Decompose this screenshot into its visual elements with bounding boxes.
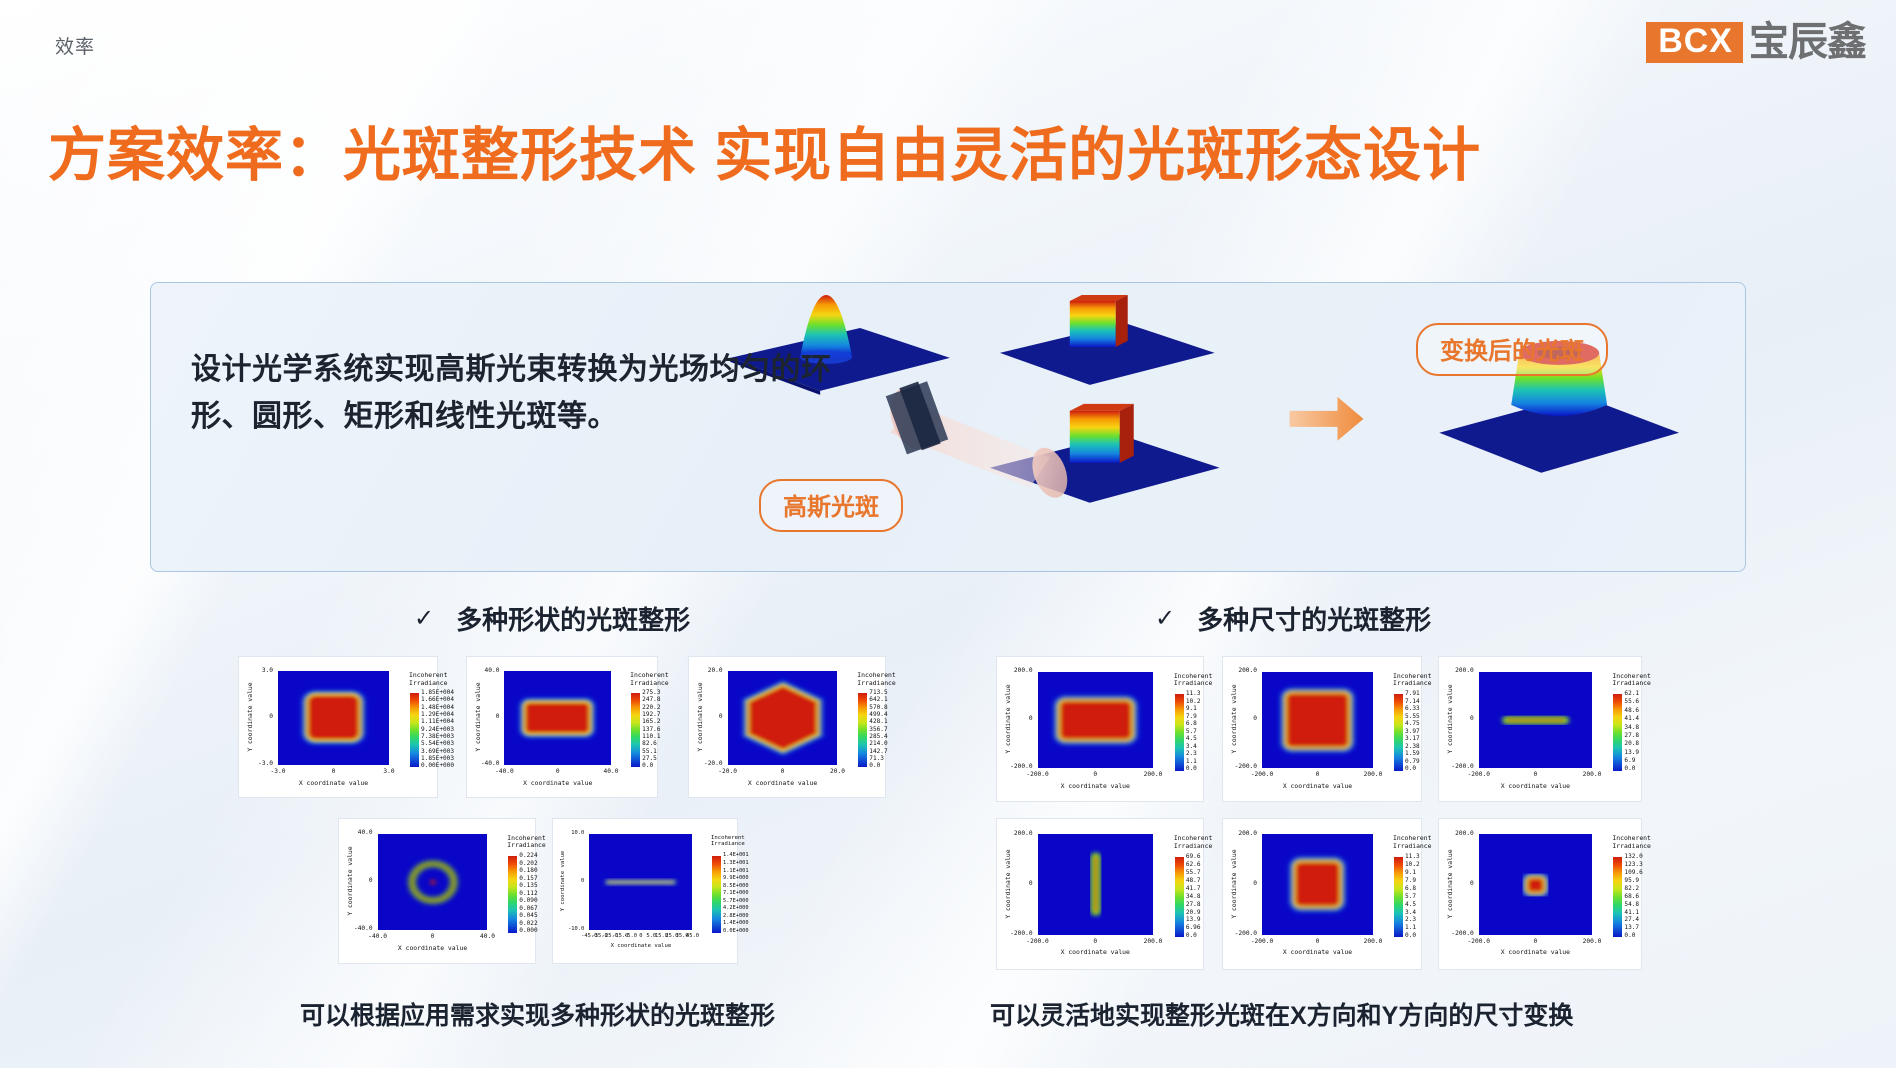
y-tick: 200.0 <box>1238 667 1257 674</box>
x-tick: -40.0 <box>495 768 514 775</box>
heatmap-field <box>589 834 692 930</box>
x-tick: -5.0 <box>624 933 637 939</box>
colorbar <box>858 693 867 768</box>
x-tick: 0 <box>781 768 785 775</box>
colorbar-labels: 11.310.29.17.96.85.74.53.42.31.10.0 <box>1405 854 1420 939</box>
x-tick: 200.0 <box>1583 938 1602 945</box>
x-tick: 0 <box>639 933 642 939</box>
colorbar-tick: 5.7 <box>1186 729 1201 735</box>
colorbar-tick: 0.0 <box>869 763 887 769</box>
colorbar-tick: 9.1 <box>1186 706 1201 712</box>
plot-size-line-v: IncoherentIrradiance 69.662.655.748.7 <box>996 818 1204 970</box>
colorbar <box>1394 694 1403 771</box>
plot-size-square-small: IncoherentIrradiance <box>1438 818 1642 970</box>
colorbar-tick: 7.38E+003 <box>421 734 454 740</box>
colorbar-tick: 3.17 <box>1405 736 1420 742</box>
colorbar-tick: 13.9 <box>1624 750 1639 756</box>
y-axis-label: Y coordinate value <box>1004 671 1012 767</box>
y-tick: 10.0 <box>571 830 584 836</box>
flattop-plot-3d-top <box>1000 295 1215 385</box>
colorbar-title: IncoherentIrradiance <box>1174 673 1212 688</box>
colorbar-tick: 41.4 <box>1624 716 1639 722</box>
colorbar-tick: 7.9 <box>1186 714 1201 720</box>
x-tick: 3.0 <box>383 768 394 775</box>
plot-shape-rectangle: IncoherentIrradiance <box>466 656 658 798</box>
colorbar-title: IncoherentIrradiance <box>1393 835 1431 850</box>
x-tick: -200.0 <box>1251 938 1273 945</box>
y-tick: 200.0 <box>1455 830 1474 837</box>
heatmap-pattern <box>1038 834 1153 934</box>
colorbar-tick: 34.8 <box>1624 725 1639 731</box>
label-transformed-spot: 变换后的光斑 <box>1416 323 1608 376</box>
colorbar-tick: 1.3E+001 <box>723 861 749 866</box>
colorbar-tick: 10.2 <box>1186 699 1201 705</box>
colorbar-tick: 4.5 <box>1405 902 1420 908</box>
x-axis-label: X coordinate value <box>1038 782 1153 790</box>
logo-mark-text: BCX <box>1646 22 1743 63</box>
colorbar <box>631 693 640 768</box>
colorbar-tick: 1.4E+001 <box>723 853 749 858</box>
colorbar-tick: 109.6 <box>1624 870 1642 876</box>
colorbar-title: IncoherentIrradiance <box>711 835 745 848</box>
x-tick: -200.0 <box>1251 771 1273 778</box>
colorbar-tick: 0.157 <box>519 876 537 882</box>
x-tick: -3.0 <box>271 768 286 775</box>
x-tick: 0 <box>1534 771 1538 778</box>
colorbar-tick: 4.5 <box>1186 736 1201 742</box>
colorbar-gradient <box>858 693 867 768</box>
colorbar-tick: 137.6 <box>642 727 660 733</box>
colorbar-labels: 132.0123.3109.695.982.268.654.841.127.41… <box>1624 854 1642 939</box>
x-tick: 45.0 <box>686 933 699 939</box>
colorbar-tick: 132.0 <box>1624 854 1642 860</box>
colorbar-tick: 20.9 <box>1186 910 1201 916</box>
colorbar-labels: 62.155.648.641.434.827.820.813.96.90.0 <box>1624 691 1639 773</box>
colorbar-tick: 1.4E+000 <box>723 921 749 926</box>
transform-arrow-icon <box>1290 397 1364 441</box>
colorbar <box>1175 694 1184 771</box>
x-axis-label: X coordinate value <box>589 943 692 949</box>
colorbar-tick: 1.1E+001 <box>723 869 749 874</box>
plot-shape-line: IncoherentIrradiance 1.4E+0 <box>552 818 738 964</box>
x-tick: -40.0 <box>368 933 387 940</box>
section-heading-sizes: ✓ 多种尺寸的光斑整形 <box>1155 600 1431 637</box>
colorbar-tick: 11.3 <box>1405 854 1420 860</box>
heatmap-field <box>378 834 488 930</box>
colorbar-tick: 7.91 <box>1405 691 1420 697</box>
page-title: 方案效率：光斑整形技术 实现自由灵活的光斑形态设计 <box>48 108 1481 192</box>
colorbar-tick: 27.5 <box>642 756 660 762</box>
colorbar-tick: 0.0E+000 <box>723 929 749 934</box>
colorbar-tick: 0.0 <box>1624 766 1639 772</box>
colorbar-tick: 1.59 <box>1405 751 1420 757</box>
caption-shapes: 可以根据应用需求实现多种形状的光斑整形 <box>300 996 775 1032</box>
colorbar-tick: 0.180 <box>519 868 537 874</box>
y-axis-label: Y coordinate value <box>1230 671 1238 767</box>
y-tick: -40.0 <box>481 760 500 767</box>
colorbar-tick: 7.9 <box>1405 878 1420 884</box>
slide-kicker: 效率 <box>55 32 95 59</box>
x-tick: 200.0 <box>1144 771 1163 778</box>
colorbar-tick: 13.7 <box>1624 925 1642 931</box>
heatmap-pattern <box>504 671 611 765</box>
colorbar-tick: 275.3 <box>642 690 660 696</box>
x-axis-label: X coordinate value <box>1262 782 1373 790</box>
colorbar-tick: 27.8 <box>1624 733 1639 739</box>
plot-size-rect-wide: IncoherentIrradiance <box>996 656 1204 802</box>
colorbar-tick: 123.3 <box>1624 862 1642 868</box>
heatmap-pattern <box>1262 834 1373 934</box>
colorbar-tick: 1.66E+004 <box>421 697 454 703</box>
y-tick: 0 <box>719 713 723 720</box>
x-tick: 0 <box>1316 771 1320 778</box>
colorbar-gradient <box>508 856 517 933</box>
x-tick: -200.0 <box>1468 938 1490 945</box>
y-tick: 40.0 <box>358 829 373 836</box>
x-axis-label: X coordinate value <box>1262 948 1373 956</box>
colorbar-tick: 27.4 <box>1624 917 1642 923</box>
x-tick: 0 <box>431 933 435 940</box>
heatmap-field <box>1262 672 1373 768</box>
colorbar <box>1175 857 1184 937</box>
colorbar-tick: 285.4 <box>869 734 887 740</box>
plot-shape-ring: IncoherentIrradiance <box>338 818 536 964</box>
x-tick: 0 <box>1316 938 1320 945</box>
section-heading-shapes: ✓ 多种形状的光斑整形 <box>414 600 690 637</box>
x-tick: 0 <box>1093 938 1097 945</box>
colorbar <box>1613 694 1622 771</box>
x-axis-label: X coordinate value <box>1038 948 1153 956</box>
caption-sizes: 可以灵活地实现整形光斑在X方向和Y方向的尺寸变换 <box>990 996 1573 1032</box>
colorbar-tick: 0.224 <box>519 853 537 859</box>
colorbar-labels: 11.310.29.17.96.85.74.53.42.31.10.0 <box>1186 691 1201 773</box>
colorbar-tick: 7.1E+000 <box>723 891 749 896</box>
x-tick: 200.0 <box>1364 938 1383 945</box>
y-tick: 0 <box>1029 715 1033 722</box>
heatmap-pattern <box>1038 672 1153 768</box>
plot-size-line-h: IncoherentIrradiance 62.155.648.641.4 <box>1438 656 1642 802</box>
check-icon: ✓ <box>1155 604 1175 633</box>
x-axis-label: X coordinate value <box>378 944 488 952</box>
colorbar-tick: 5.7E+000 <box>723 899 749 904</box>
colorbar-title: IncoherentIrradiance <box>1393 673 1431 688</box>
x-tick: -200.0 <box>1468 771 1490 778</box>
brand-logo: BCX 宝辰鑫 <box>1646 22 1866 63</box>
colorbar-tick: 82.2 <box>1624 886 1642 892</box>
colorbar-title: IncoherentIrradiance <box>409 672 447 687</box>
colorbar-tick: 0.090 <box>519 898 537 904</box>
y-axis-label: Y coordinate value <box>346 833 354 929</box>
colorbar-tick: 5.54E+003 <box>421 741 454 747</box>
colorbar-tick: 142.7 <box>869 749 887 755</box>
colorbar-gradient <box>410 693 419 768</box>
y-tick: -200.0 <box>1451 763 1473 770</box>
colorbar-tick: 3.69E+003 <box>421 749 454 755</box>
colorbar-tick: 0.00E+000 <box>421 763 454 769</box>
y-tick: 0 <box>1470 880 1474 887</box>
x-tick: 0 <box>556 768 560 775</box>
colorbar-tick: 95.9 <box>1624 878 1642 884</box>
colorbar-gradient <box>1394 857 1403 937</box>
heatmap-pattern <box>589 834 692 930</box>
colorbar-tick: 20.8 <box>1624 741 1639 747</box>
heatmap-field <box>1479 672 1592 768</box>
colorbar-tick: 27.8 <box>1186 902 1201 908</box>
colorbar-tick: 1.11E+004 <box>421 719 454 725</box>
section-heading-sizes-label: 多种尺寸的光斑整形 <box>1197 600 1431 637</box>
heatmap-field <box>504 671 611 765</box>
y-tick: 0 <box>581 878 584 884</box>
y-tick: -200.0 <box>1010 763 1032 770</box>
y-tick: 200.0 <box>1455 667 1474 674</box>
colorbar-tick: 68.6 <box>1624 894 1642 900</box>
colorbar <box>1394 857 1403 937</box>
colorbar-tick: 1.48E+004 <box>421 705 454 711</box>
colorbar-title: IncoherentIrradiance <box>1612 673 1650 688</box>
y-tick: 3.0 <box>262 667 273 674</box>
y-tick: 0 <box>1253 715 1257 722</box>
x-axis-label: X coordinate value <box>1479 948 1592 956</box>
x-tick: 40.0 <box>604 768 619 775</box>
optical-system <box>882 381 1073 502</box>
colorbar-tick: 8.5E+000 <box>723 884 749 889</box>
x-tick: 0 <box>1093 771 1097 778</box>
colorbar-tick: 1.85E+003 <box>421 756 454 762</box>
colorbar-tick: 570.8 <box>869 705 887 711</box>
colorbar-tick: 192.7 <box>642 712 660 718</box>
colorbar-gradient <box>1613 694 1622 771</box>
heatmap-field <box>1038 834 1153 934</box>
colorbar-tick: 356.7 <box>869 727 887 733</box>
y-axis-label: Y coordinate value <box>1446 834 1454 934</box>
heatmap-pattern <box>1479 834 1592 934</box>
colorbar-tick: 0.112 <box>519 891 537 897</box>
heatmap-pattern <box>1479 672 1592 768</box>
colorbar-tick: 0.0 <box>1624 933 1642 939</box>
colorbar-gradient <box>712 856 721 933</box>
colorbar-tick: 0.000 <box>519 928 537 934</box>
colorbar <box>712 856 721 933</box>
colorbar-gradient <box>631 693 640 768</box>
colorbar-tick: 110.1 <box>642 734 660 740</box>
colorbar-tick: 0.022 <box>519 921 537 927</box>
y-axis-label: Y coordinate value <box>696 671 704 765</box>
colorbar-tick: 0.0 <box>1186 766 1201 772</box>
y-axis-label: Y coordinate value <box>560 833 566 929</box>
colorbar-tick: 1.29E+004 <box>421 712 454 718</box>
heatmap-pattern <box>278 671 389 765</box>
colorbar-tick: 713.5 <box>869 690 887 696</box>
y-axis-label: Y coordinate value <box>1446 671 1454 767</box>
colorbar-gradient <box>1613 857 1622 937</box>
colorbar-tick: 0.0 <box>1405 766 1420 772</box>
y-tick: 0 <box>496 713 500 720</box>
colorbar-tick: 4.2E+000 <box>723 906 749 911</box>
colorbar-tick: 82.6 <box>642 741 660 747</box>
plot-shape-square: IncoherentIrradiance <box>238 656 438 798</box>
heatmap-field <box>1479 834 1592 934</box>
colorbar-tick: 48.7 <box>1186 878 1201 884</box>
colorbar-tick: 0.0 <box>1405 933 1420 939</box>
y-tick: 0 <box>1470 715 1474 722</box>
y-tick: 200.0 <box>1014 830 1033 837</box>
colorbar-tick: 55.6 <box>1624 699 1639 705</box>
y-tick: 0 <box>1253 880 1257 887</box>
colorbar-tick: 6.9 <box>1624 758 1639 764</box>
colorbar-tick: 1.85E+004 <box>421 690 454 696</box>
heatmap-pattern <box>728 671 838 765</box>
y-tick: -200.0 <box>1451 930 1473 937</box>
colorbar-tick: 9.1 <box>1405 870 1420 876</box>
label-gaussian-spot: 高斯光斑 <box>759 479 903 532</box>
colorbar-title: IncoherentIrradiance <box>1612 835 1650 850</box>
colorbar-tick: 41.1 <box>1624 910 1642 916</box>
colorbar-tick: 247.8 <box>642 697 660 703</box>
colorbar-tick: 2.8E+000 <box>723 914 749 919</box>
colorbar-tick: 1.1 <box>1186 759 1201 765</box>
colorbar-tick: 0.135 <box>519 883 537 889</box>
colorbar-tick: 62.6 <box>1186 862 1201 868</box>
colorbar-title: IncoherentIrradiance <box>507 835 545 850</box>
x-axis-label: X coordinate value <box>504 779 611 787</box>
x-tick: -200.0 <box>1026 771 1048 778</box>
colorbar-tick: 13.9 <box>1186 917 1201 923</box>
x-axis-label: X coordinate value <box>728 779 838 787</box>
plot-size-square-big: IncoherentIrradiance <box>1222 656 1422 802</box>
colorbar-labels: 0.2240.2020.1800.1570.1350.1120.0900.067… <box>519 853 537 935</box>
hero-description: 设计光学系统实现高斯光束转换为光场均匀的环形、圆形、矩形和线性光斑等。 <box>191 347 841 440</box>
colorbar <box>1613 857 1622 937</box>
colorbar-labels: 1.85E+0041.66E+0041.48E+0041.29E+0041.11… <box>421 690 454 770</box>
y-tick: 200.0 <box>1014 667 1033 674</box>
colorbar-tick: 214.0 <box>869 741 887 747</box>
colorbar-tick: 6.8 <box>1405 886 1420 892</box>
colorbar-labels: 1.4E+0011.3E+0011.1E+0019.9E+0008.5E+000… <box>723 853 749 934</box>
colorbar-tick: 54.8 <box>1624 902 1642 908</box>
y-tick: 20.0 <box>708 667 723 674</box>
x-tick: 200.0 <box>1583 771 1602 778</box>
colorbar-labels: 7.917.146.335.554.753.973.172.381.590.79… <box>1405 691 1420 773</box>
y-axis-label: Y coordinate value <box>246 671 254 765</box>
y-tick: -200.0 <box>1010 930 1032 937</box>
colorbar-tick: 165.2 <box>642 719 660 725</box>
colorbar-tick: 34.8 <box>1186 894 1201 900</box>
colorbar <box>508 856 517 933</box>
colorbar-tick: 642.1 <box>869 697 887 703</box>
y-tick: 0 <box>369 877 373 884</box>
y-axis-label: Y coordinate value <box>1004 834 1012 934</box>
colorbar-labels: 275.3247.8220.2192.7165.2137.6110.182.65… <box>642 690 660 770</box>
x-axis-label: X coordinate value <box>278 779 389 787</box>
colorbar <box>410 693 419 768</box>
colorbar-tick: 0.045 <box>519 913 537 919</box>
colorbar-tick: 69.6 <box>1186 854 1201 860</box>
heatmap-field <box>1262 834 1373 934</box>
colorbar-tick: 3.4 <box>1186 744 1201 750</box>
colorbar-tick: 5.7 <box>1405 894 1420 900</box>
colorbar-gradient <box>1394 694 1403 771</box>
colorbar-tick: 0.0 <box>1186 933 1201 939</box>
heatmap-field <box>1038 672 1153 768</box>
y-tick: -40.0 <box>354 925 373 932</box>
colorbar-tick: 4.75 <box>1405 721 1420 727</box>
colorbar-tick: 55.1 <box>642 749 660 755</box>
x-tick: -200.0 <box>1026 938 1048 945</box>
colorbar-tick: 71.3 <box>869 756 887 762</box>
colorbar-tick: 6.8 <box>1186 721 1201 727</box>
colorbar-title: IncoherentIrradiance <box>857 672 895 687</box>
colorbar-tick: 41.7 <box>1186 886 1201 892</box>
x-tick: -20.0 <box>718 768 737 775</box>
heatmap-pattern <box>378 834 488 930</box>
heatmap-field <box>728 671 838 765</box>
x-tick: 0 <box>1534 938 1538 945</box>
colorbar-tick: 6.96 <box>1186 925 1201 931</box>
colorbar-tick: 499.4 <box>869 712 887 718</box>
colorbar-tick: 1.1 <box>1405 925 1420 931</box>
y-axis-label: Y coordinate value <box>474 671 482 765</box>
colorbar-tick: 5.55 <box>1405 714 1420 720</box>
x-tick: 200.0 <box>1144 938 1163 945</box>
x-tick: 200.0 <box>1364 771 1383 778</box>
colorbar-tick: 428.1 <box>869 719 887 725</box>
colorbar-tick: 9.24E+003 <box>421 727 454 733</box>
colorbar-tick: 2.3 <box>1186 751 1201 757</box>
colorbar-labels: 713.5642.1570.8499.4428.1356.7285.4214.0… <box>869 690 887 770</box>
x-tick: 20.0 <box>830 768 845 775</box>
y-tick: -20.0 <box>704 760 723 767</box>
colorbar-tick: 55.7 <box>1186 870 1201 876</box>
y-tick: 200.0 <box>1238 830 1257 837</box>
colorbar-title: IncoherentIrradiance <box>1174 835 1212 850</box>
colorbar-tick: 220.2 <box>642 705 660 711</box>
colorbar-labels: 69.662.655.748.741.734.827.820.913.96.96… <box>1186 854 1201 939</box>
y-axis-label: Y coordinate value <box>1230 834 1238 934</box>
colorbar-gradient <box>1175 857 1184 937</box>
y-tick: -10.0 <box>568 926 584 932</box>
colorbar-tick: 0.0 <box>642 763 660 769</box>
colorbar-tick: 0.067 <box>519 906 537 912</box>
colorbar-tick: 2.38 <box>1405 744 1420 750</box>
colorbar-tick: 7.14 <box>1405 699 1420 705</box>
y-tick: 0 <box>1029 880 1033 887</box>
section-heading-shapes-label: 多种形状的光斑整形 <box>456 600 690 637</box>
colorbar-title: IncoherentIrradiance <box>630 672 668 687</box>
colorbar-gradient <box>1175 694 1184 771</box>
hero-panel: 设计光学系统实现高斯光束转换为光场均匀的环形、圆形、矩形和线性光斑等。 <box>150 282 1746 572</box>
colorbar-tick: 3.97 <box>1405 729 1420 735</box>
colorbar-tick: 3.4 <box>1405 910 1420 916</box>
plot-size-square-mid: IncoherentIrradiance <box>1222 818 1422 970</box>
colorbar-tick: 0.202 <box>519 861 537 867</box>
check-icon: ✓ <box>414 604 434 633</box>
y-tick: 40.0 <box>485 667 500 674</box>
y-tick: 0 <box>269 713 273 720</box>
colorbar-tick: 9.9E+000 <box>723 876 749 881</box>
x-tick: 40.0 <box>480 933 495 940</box>
x-axis-label: X coordinate value <box>1479 782 1592 790</box>
colorbar-tick: 6.33 <box>1405 706 1420 712</box>
colorbar-tick: 0.79 <box>1405 759 1420 765</box>
heatmap-pattern <box>1262 672 1373 768</box>
heatmap-field <box>278 671 389 765</box>
plot-shape-hexagon: IncoherentIrradiance <box>688 656 886 798</box>
logo-chinese-text: 宝辰鑫 <box>1749 22 1866 62</box>
colorbar-tick: 10.2 <box>1405 862 1420 868</box>
x-tick: 0 <box>332 768 336 775</box>
colorbar-tick: 11.3 <box>1186 691 1201 697</box>
colorbar-tick: 48.6 <box>1624 708 1639 714</box>
